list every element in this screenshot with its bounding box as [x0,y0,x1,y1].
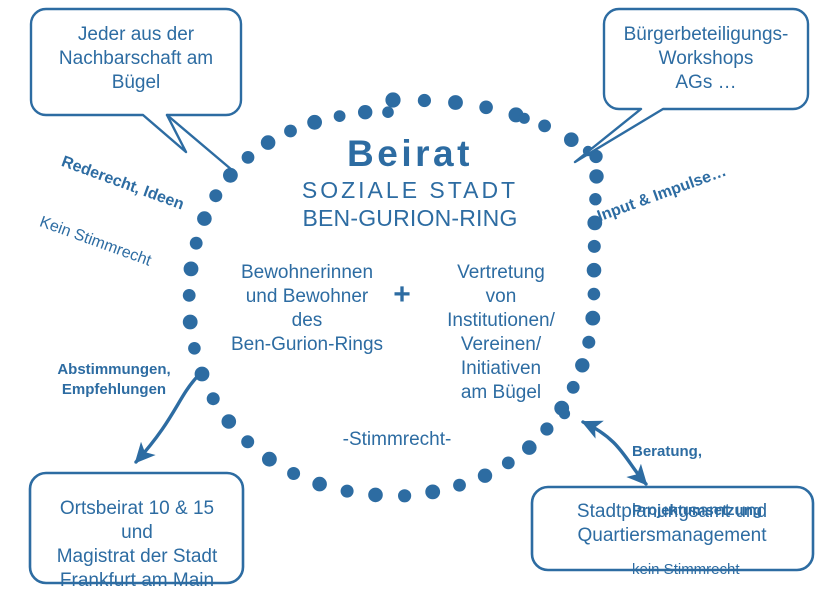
bubble-top-left-text: Jeder aus der Nachbarschaft am Bügel [41,23,231,95]
relation-label-beratung-line-1: Beratung, [632,442,812,462]
plus-icon: + [386,276,418,314]
bubble-top-right-text: Bürgerbeteiligungs- Workshops AGs … [610,23,802,95]
diagram-canvas: Jeder aus der Nachbarschaft am Bügel Bür… [0,0,820,600]
relation-label-abstimmungen: Abstimmungen, Empfehlungen [38,360,190,401]
box-bottom-right-text: Stadtplanungsamt und Quartiersmanagement [536,500,808,548]
page-title: Beirat [0,131,820,178]
voting-right-note: -Stimmrecht- [272,428,522,452]
member-group-residents: Bewohnerinnen und Bewohner des Ben-Gurio… [214,261,400,357]
page-subtitle-ben-gurion-ring: BEN-GURION-RING [0,204,820,233]
box-bottom-left-text: Ortsbeirat 10 & 15 und Magistrat der Sta… [34,497,240,593]
member-group-institutions: Vertretung von Institutionen/ Vereinen/ … [422,261,580,405]
page-subtitle-soziale-stadt: SOZIALE STADT [0,176,820,205]
relation-label-beratung-regular: kein Stimmrecht [632,560,812,580]
